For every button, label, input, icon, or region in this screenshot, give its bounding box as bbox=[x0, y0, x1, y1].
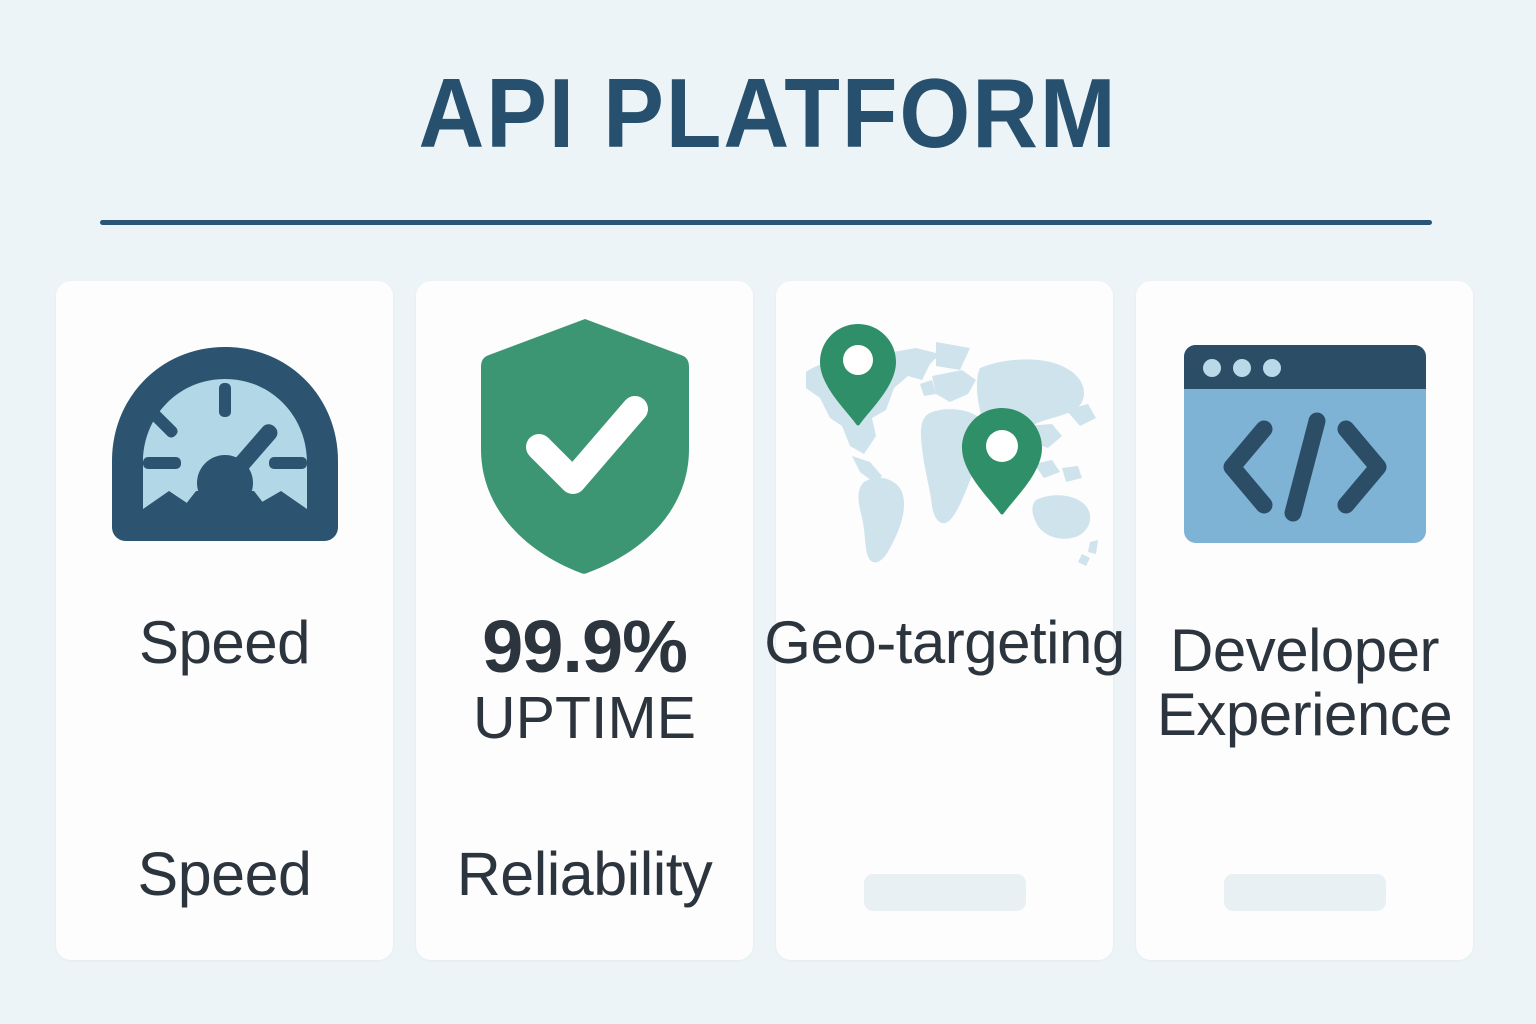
speedometer-icon bbox=[56, 281, 393, 611]
page-header: API PLATFORM bbox=[0, 0, 1536, 260]
card-footer-reliability: Reliability bbox=[416, 841, 753, 907]
stat-label-uptime: UPTIME bbox=[416, 687, 753, 749]
card-geo-targeting[interactable]: Geo-targeting bbox=[776, 281, 1113, 960]
feature-card-row: Speed Speed 99.9% UPTIME Reliability bbox=[56, 281, 1488, 960]
world-map-pins-icon bbox=[776, 281, 1113, 611]
shield-check-icon bbox=[416, 281, 753, 611]
card-developer-experience[interactable]: Developer Experience bbox=[1136, 281, 1473, 960]
window-dot-3 bbox=[1263, 359, 1281, 377]
window-dot-1 bbox=[1203, 359, 1221, 377]
card-footer-placeholder-geo bbox=[864, 874, 1026, 911]
code-window-icon bbox=[1136, 281, 1473, 611]
card-speed[interactable]: Speed Speed bbox=[56, 281, 393, 960]
card-uptime[interactable]: 99.9% UPTIME Reliability bbox=[416, 281, 753, 960]
map-pin-asia bbox=[962, 408, 1042, 515]
card-title-developer-experience: Developer Experience bbox=[1124, 619, 1485, 747]
card-title-speed: Speed bbox=[44, 611, 405, 675]
card-footer-speed: Speed bbox=[56, 841, 393, 907]
stat-value-uptime: 99.9% bbox=[416, 609, 753, 685]
card-footer-placeholder-devex bbox=[1224, 874, 1386, 911]
card-title-geo-targeting: Geo-targeting bbox=[764, 611, 1125, 675]
window-dot-2 bbox=[1233, 359, 1251, 377]
page-title: API PLATFORM bbox=[54, 58, 1482, 168]
title-divider bbox=[100, 220, 1432, 225]
